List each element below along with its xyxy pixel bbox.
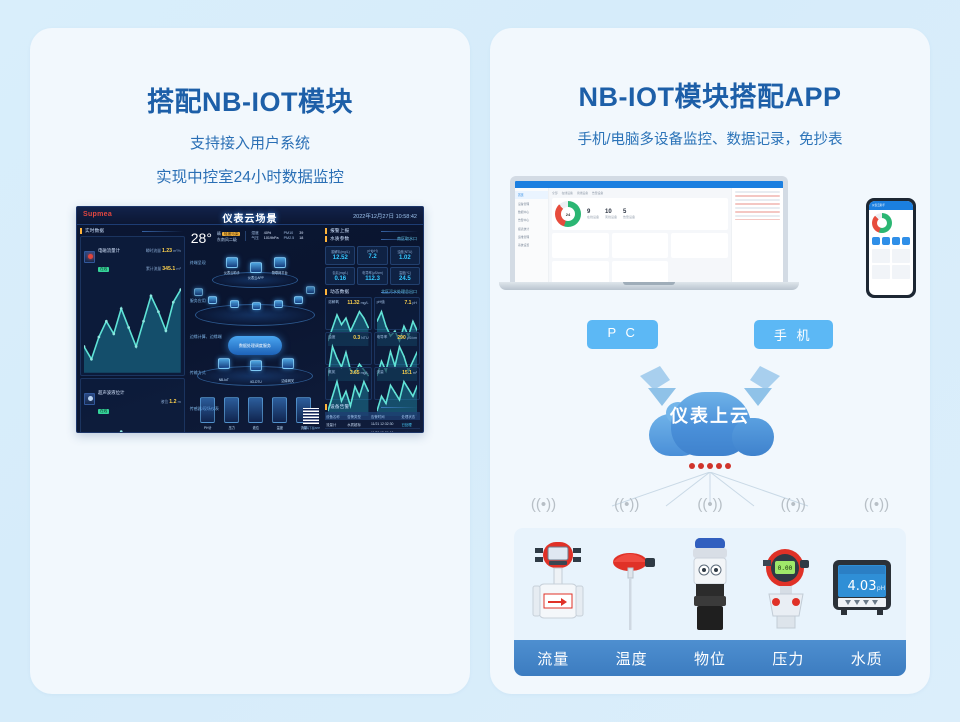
terminal-node[interactable] [274,257,286,268]
field-device-label: 液位 [253,425,259,430]
temperature-transmitter-icon [601,532,667,636]
tab-alarm[interactable]: 告警设备 [592,191,603,195]
placeholder-line [735,195,780,197]
mobile-pill[interactable]: 手 机 [754,320,833,349]
instrument-images: 0.00 4.03 pH [514,528,906,640]
dashboard-timestamp: 2022年12月27日 10:58:42 [353,212,417,220]
instrument-label-level: 物位 [694,648,726,669]
sidebar-item-settings[interactable]: 系统设置 [515,241,548,249]
mini-chart: 流量15.1 m³ [374,367,420,400]
mini-charts-grid: 溶解氧11.32 mg/L pH值7.1 pH [325,297,420,400]
cloud-label: 仪表上云 [490,402,930,428]
realtime-section-header: 实时数据 [80,228,185,234]
kpi-offline: 10离线设备 [605,209,617,219]
metric-row: 液位 1.2 m [161,400,181,404]
weather-metrics: 湿度40% PM1039 气压1019hPa PM2.518 [245,231,303,241]
pressure-transmitter-icon: 0.00 [753,532,819,636]
signal-icons-row: ((•)) ((•)) ((•)) ((•)) ((•)) [490,496,930,513]
weather-temperature: 28° [191,231,212,245]
right-panel-header: NB-IOT模块搭配APP 手机/电脑多设备监控、数据记录，免抄表 [490,75,930,149]
device-tile[interactable] [552,233,609,258]
left-panel: 搭配NB-IOT模块 支持接入用户系统 实现中控室24小时数据监控 Supmea… [30,28,470,694]
placeholder-line [735,211,780,213]
cloud-dot [716,463,722,469]
wq-tile: pH(pH)7.2 [357,246,387,265]
device-tile[interactable] [671,233,728,258]
placeholder-line [735,191,780,193]
ultrasonic-level-meter-icon [677,532,743,636]
device-tile-grid [552,233,728,282]
phone-screen: 仪表云助手 [869,201,913,295]
weather-metric-value: 18 [299,236,303,241]
field-device-label: PH计 [204,425,212,430]
layer-label-terminal: 终端呈现 [190,260,206,266]
dashboard-right-column: 报警上报 水质参数 南区取水口 溶解氧(mg/L)12.52 pH(pH)7.2… [325,228,420,431]
placeholder-line [735,215,780,217]
weather-metric-label: 气压 [251,236,258,241]
terminal-node[interactable] [226,257,238,268]
left-panel-subtitle-2: 实现中控室24小时数据监控 [30,165,470,187]
side-node-storage[interactable] [194,288,203,296]
instrument-label-flow: 流量 [537,648,569,669]
wifi-signal-icon: ((•)) [781,496,806,513]
placeholder-line [735,219,780,221]
donut-total: 24 [555,201,581,227]
mini-chart: pH值7.1 pH [374,297,420,330]
service-node[interactable] [252,302,261,310]
wifi-signal-icon: ((•)) [614,496,639,513]
weather-metric-label: PM2.5 [284,236,295,241]
wq-tile: 浊度(NTU)1.02 [390,246,420,265]
wq-tile: 温度(℃)24.5 [390,267,420,286]
device-name: 超声波液位计 [98,390,124,395]
phone-mockup: 仪表云助手 [866,198,916,298]
phone-device-tile[interactable] [872,249,890,263]
laptop-right-rail [731,188,783,282]
wq-tile: 电导率(μS/cm)112.3 [357,267,387,286]
col-device: 设备名称 [325,412,346,420]
kpi-alarm: 5告警设备 [623,209,635,219]
sparkline-chart [84,418,181,433]
device-tile[interactable] [612,261,669,282]
terminal-node-label: 物联网平台 [272,270,288,275]
tab-all[interactable]: 全部 [552,191,558,195]
right-panel-subtitle: 手机/电脑多设备监控、数据记录，免抄表 [490,128,930,149]
cloud-section: 仪表上云 [490,364,930,482]
laptop-titlebar: 设备监控平台 [515,181,783,188]
dashboard-left-column: 实时数据 电磁流量计 在线 瞬时流量 1.23 m³/h 累计流量 345.1 … [80,228,185,431]
field-device-label: 压力 [229,425,235,430]
dynamic-data-header: 动态数据 北区污水处理总出口 [325,289,420,295]
instrument-labels: 流量 温度 物位 压力 水质 [514,640,906,676]
device-tile-empty [671,261,728,282]
laptop-tabs: 全部 在线设备 离线设备 告警设备 [552,191,728,195]
metric-row: 瞬时流量 1.23 m³/h [146,249,181,253]
device-name: 电磁流量计 [98,248,120,253]
alarm-table-header-row: 设备名称 告警类型 告警时间 处理状态 [325,412,420,420]
status-badge: 在线 [98,267,109,272]
page-root: 搭配NB-IOT模块 支持接入用户系统 实现中控室24小时数据监控 Supmea… [0,0,960,722]
alarm-table-body: 流量计水质超标11/21 12:32:30已处理 PH电极组PH超标11/20 … [325,420,420,433]
placeholder-line [735,199,780,201]
cloud-dot [698,463,704,469]
device-tile[interactable] [552,261,609,282]
cloud-dot [689,463,695,469]
laptop-base [499,282,799,290]
placeholder-line [735,203,780,205]
instrument-showcase: 0.00 4.03 pH [514,528,906,676]
sidebar-item-ops[interactable]: 运维管理 [515,233,548,241]
instrument-label-temp: 温度 [616,648,648,669]
sidebar-item-reports[interactable]: 报表统计 [515,225,548,233]
sidebar-item-devices[interactable]: 设备管理 [515,199,548,207]
col-status: 处理状态 [401,412,421,420]
water-quality-analyzer-icon: 4.03 pH [829,532,895,636]
phone-donut-chart [872,213,892,233]
device-alarm-header: 设备告警 [325,404,420,410]
water-quality-header: 水质参数 南区取水口 [325,236,420,242]
laptop-mockup: 设备监控平台 首页 设备管理 数据中心 告警中心 报表统计 运维管理 系统设置 [510,176,788,290]
phone-titlebar: 仪表云助手 [869,201,913,210]
phone-body [869,210,913,282]
flowmeter-icon [84,251,95,263]
air-quality-chip: 轻度污染 [222,232,240,236]
dashboard-header: Supmea 仪表云场景 2022年12月27日 10:58:42 [77,207,423,225]
phone-quick-icon[interactable] [882,237,890,245]
edge-node[interactable] [250,360,262,371]
laptop-app: 首页 设备管理 数据中心 告警中心 报表统计 运维管理 系统设置 全部 在线设备 [515,188,783,282]
wq-location: 南区取水口 [397,236,417,242]
edge-node-label: 4G-DTU [250,380,262,384]
placeholder-line [735,207,780,209]
field-device[interactable] [272,397,287,423]
terminal-node[interactable] [250,262,262,273]
cloud-dot [725,463,731,469]
phone-device-tile[interactable] [872,265,890,279]
phone-quick-icon[interactable] [902,237,910,245]
wq-tile: 氨氮(mg/L)0.16 [325,267,355,286]
layer-label-service: 服务应用 [190,298,206,304]
phone-quick-icon[interactable] [892,237,900,245]
service-node[interactable] [274,300,283,308]
wq-tile: 溶解氧(mg/L)12.52 [325,246,355,265]
side-node-analysis[interactable] [306,286,315,294]
right-panel-title: NB-IOT模块搭配APP [490,75,930,114]
cloud-service-node[interactable]: 数据处理调度服务 [228,336,282,355]
service-node[interactable] [230,300,239,308]
laptop-sidebar: 首页 设备管理 数据中心 告警中心 报表统计 运维管理 系统设置 [515,188,549,282]
phone-device-tile[interactable] [892,265,910,279]
analyzer-display-value: 4.03 [848,579,877,594]
device-metrics: 瞬时流量 1.23 m³/h 累计流量 345.1 m³ [146,239,181,275]
dyn-location: 北区污水处理总出口 [381,289,417,295]
metric-row: 累计流量 345.1 m³ [146,267,181,271]
level-icon [84,393,95,405]
sidebar-item-home[interactable]: 首页 [515,191,548,199]
device-metrics: 液位 1.2 m [161,390,181,408]
laptop-screen: 设备监控平台 首页 设备管理 数据中心 告警中心 报表统计 运维管理 系统设置 [510,176,788,282]
field-device-label: 温度 [277,425,283,430]
mini-chart: 氨氮3.65 mg/L [325,367,371,400]
phone-device-tile[interactable] [892,249,910,263]
phone-quick-icon[interactable] [872,237,880,245]
water-quality-grid: 溶解氧(mg/L)12.52 pH(pH)7.2 浊度(NTU)1.02 氨氮(… [325,244,420,287]
field-device[interactable] [248,397,263,423]
platform-pills: P C 手 机 [490,320,930,349]
device-card[interactable]: 超声波液位计 在线 液位 1.2 m [80,378,185,433]
architecture-diagram: 终端呈现 服务应用 边缘计算、边缘端 传输方式 传感器/现场仪表 仪表云助手 仪… [188,254,322,431]
wifi-signal-icon: ((•)) [697,496,722,513]
sparkline-chart [84,276,181,373]
col-type: 告警类型 [346,412,370,420]
weather-wind: 东南风二级 [217,237,241,243]
tab-offline[interactable]: 离线设备 [577,191,588,195]
col-time: 告警时间 [370,412,401,420]
cloud-dots [490,463,930,469]
weather-bar: 28° 晴 轻度污染 东南风二级 湿度40% PM1039 气压1019hPa … [188,228,322,245]
instrument-label-pressure: 压力 [772,648,804,669]
alarm-table: 设备名称 告警类型 告警时间 处理状态 流量计水质超标11/21 12:32:3… [325,412,420,433]
field-device[interactable] [224,397,239,423]
kpi-online: 9在线设备 [587,209,599,219]
edge-node[interactable] [282,358,294,369]
terminal-node-label: 仪表云助手 [224,270,240,275]
svg-text:0.00: 0.00 [778,565,793,572]
service-node[interactable] [208,296,217,304]
mini-chart: 电导率290 μS/cm [374,332,420,365]
wifi-signal-icon: ((•)) [864,496,889,513]
mini-chart: 浊度0.3 NTU [325,332,371,365]
qr-code[interactable] [303,408,319,424]
dashboard-body: 实时数据 电磁流量计 在线 瞬时流量 1.23 m³/h 累计流量 345.1 … [77,225,423,433]
service-node[interactable] [294,296,303,304]
table-row: PH电极组PH超标11/20 15:26:10已处理 [325,429,420,434]
analyzer-display-unit: pH [877,585,885,592]
tab-online[interactable]: 在线设备 [562,191,573,195]
wifi-signal-icon: ((•)) [531,496,556,513]
device-card-header: 超声波液位计 在线 液位 1.2 m [84,381,181,417]
alarm-upload-header: 报警上报 [325,228,420,234]
device-donut-chart: 24 [555,201,581,227]
left-panel-title: 搭配NB-IOT模块 [30,80,470,119]
phone-title: 仪表云助手 [869,201,913,207]
sidebar-item-data[interactable]: 数据中心 [515,208,548,216]
device-card[interactable]: 电磁流量计 在线 瞬时流量 1.23 m³/h 累计流量 345.1 m³ [80,236,185,376]
device-card-header: 电磁流量计 在线 瞬时流量 1.23 m³/h 累计流量 345.1 m³ [84,239,181,275]
weather-condition: 晴 [217,231,221,236]
field-device[interactable] [200,397,215,423]
dashboard-screenshot: Supmea 仪表云场景 2022年12月27日 10:58:42 实时数据 电… [76,206,424,433]
terminal-node-label: 仪表云APP [248,275,264,280]
table-row: 流量计水质超标11/21 12:32:30已处理 [325,420,420,429]
cloud-dot [707,463,713,469]
layer-label-edge-compute: 边缘计算、边缘端 [190,334,222,340]
dashboard-center-column: 28° 晴 轻度污染 东南风二级 湿度40% PM1039 气压1019hPa … [188,228,322,431]
weather-condition-block: 晴 轻度污染 东南风二级 [217,231,241,243]
sidebar-item-alarms[interactable]: 告警中心 [515,216,548,224]
right-panel: NB-IOT模块搭配APP 手机/电脑多设备监控、数据记录，免抄表 设备监控平台… [490,28,930,694]
electromagnetic-flowmeter-icon [525,532,591,636]
devices-mockup: 设备监控平台 首页 设备管理 数据中心 告警中心 报表统计 运维管理 系统设置 [504,176,916,306]
edge-node[interactable] [218,358,230,369]
mini-chart: 溶解氧11.32 mg/L [325,297,371,330]
qr-caption: 扫码下载APP [303,426,320,430]
instrument-label-quality: 水质 [851,648,883,669]
status-badge: 在线 [98,409,109,414]
laptop-main: 全部 在线设备 离线设备 告警设备 24 9在线设备 10离线设备 5告警设备 [549,188,731,282]
left-panel-header: 搭配NB-IOT模块 支持接入用户系统 实现中控室24小时数据监控 [30,80,470,187]
weather-metric-value: 1019hPa [264,236,279,241]
device-tile[interactable] [612,233,669,258]
edge-node-label: 边缘网关 [281,378,294,383]
pc-pill[interactable]: P C [587,320,657,349]
summary-card: 24 9在线设备 10离线设备 5告警设备 [552,198,728,230]
edge-node-label: NB-IoT [219,378,229,382]
left-panel-subtitle-1: 支持接入用户系统 [30,132,470,153]
